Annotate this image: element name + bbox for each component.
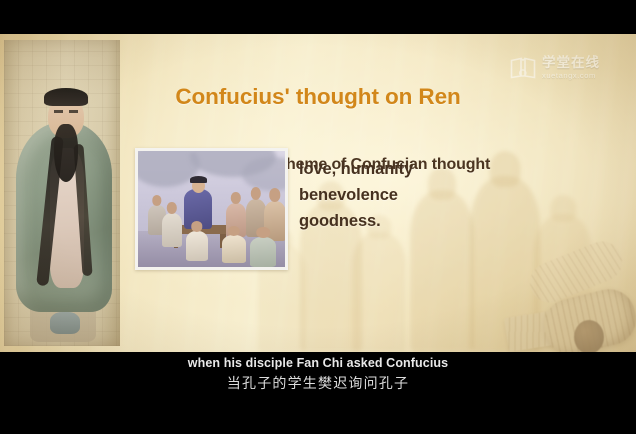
slide-vignette [0, 34, 636, 352]
presentation-slide: Confucius' thought on Ren Ren is the cen… [0, 34, 636, 352]
subtitle-chinese: 当孔子的学生樊迟询问孔子 [0, 373, 636, 393]
subtitle-block: when his disciple Fan Chi asked Confuciu… [0, 356, 636, 393]
subtitle-english: when his disciple Fan Chi asked Confuciu… [0, 356, 636, 370]
video-player: Confucius' thought on Ren Ren is the cen… [0, 0, 636, 434]
